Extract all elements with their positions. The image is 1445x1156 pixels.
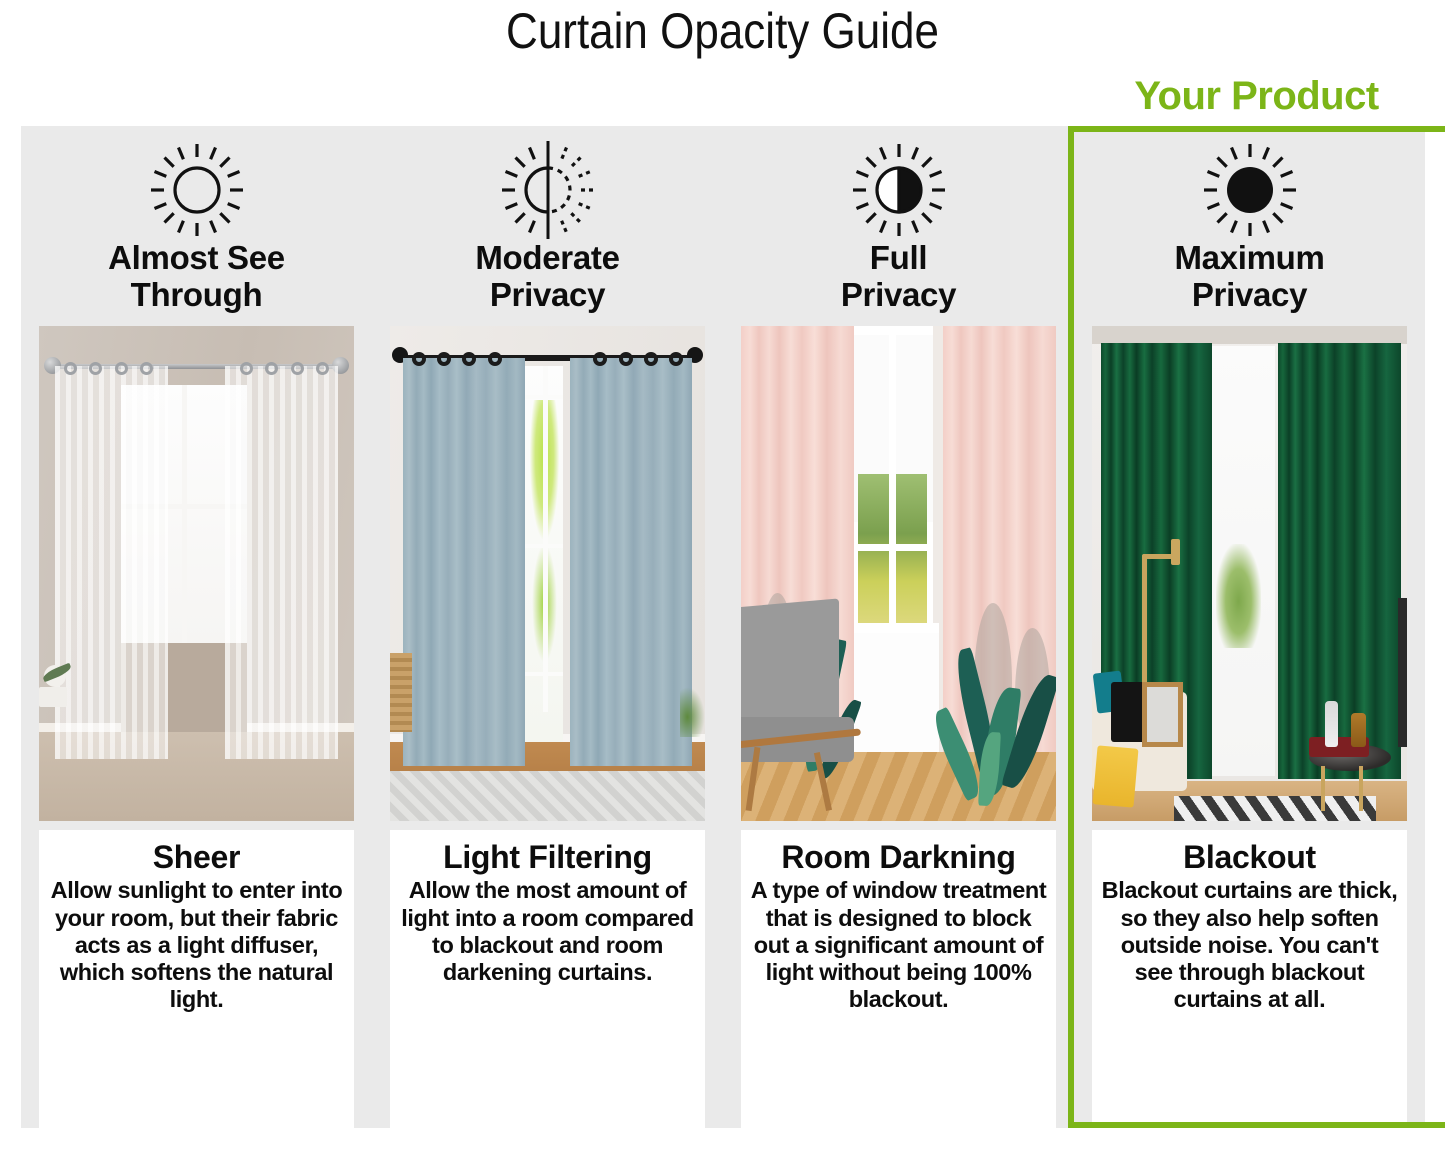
caption-card-sheer: Sheer Allow sunlight to enter into your … bbox=[39, 830, 354, 1128]
card-body-light-filtering: Allow the most amount of light into a ro… bbox=[397, 877, 698, 986]
card-body-sheer: Allow sunlight to enter into your room, … bbox=[46, 877, 347, 1013]
opacity-label-line1: Almost See bbox=[108, 239, 285, 276]
opacity-label-sheer: Almost See Through bbox=[47, 240, 347, 314]
product-photo-sheer[interactable] bbox=[39, 326, 354, 821]
opacity-label-line1: Moderate bbox=[475, 239, 619, 276]
infographic-page: Curtain Opacity Guide Your Product bbox=[0, 0, 1445, 1156]
opacity-label-line2: Privacy bbox=[1192, 276, 1307, 313]
opacity-label-blackout: Maximum Privacy bbox=[1100, 240, 1400, 314]
opacity-label-line2: Through bbox=[131, 276, 263, 313]
column-light-filtering[interactable]: Moderate Privacy bbox=[372, 126, 723, 1128]
caption-card-room-darkning: Room Darkning A type of window treatment… bbox=[741, 830, 1056, 1128]
opacity-label-line2: Privacy bbox=[841, 276, 956, 313]
opacity-label-light-filtering: Moderate Privacy bbox=[398, 240, 698, 314]
product-photo-room-darkning[interactable] bbox=[741, 326, 1056, 821]
sun-outline-icon bbox=[137, 144, 257, 236]
your-product-badge: Your Product bbox=[1068, 74, 1445, 119]
product-photo-blackout[interactable] bbox=[1092, 326, 1407, 821]
opacity-label-line2: Privacy bbox=[490, 276, 605, 313]
opacity-label-line1: Full bbox=[870, 239, 927, 276]
comparison-columns: Almost See Through bbox=[21, 126, 1425, 1128]
column-blackout[interactable]: Maximum Privacy bbox=[1074, 126, 1425, 1128]
card-title-blackout: Blackout bbox=[1099, 840, 1400, 875]
page-title: Curtain Opacity Guide bbox=[87, 2, 1359, 60]
column-sheer[interactable]: Almost See Through bbox=[21, 126, 372, 1128]
caption-card-blackout: Blackout Blackout curtains are thick, so… bbox=[1092, 830, 1407, 1128]
card-title-sheer: Sheer bbox=[46, 840, 347, 875]
opacity-label-line1: Maximum bbox=[1174, 239, 1324, 276]
card-body-room-darkning: A type of window treatment that is desig… bbox=[748, 877, 1049, 1013]
card-title-light-filtering: Light Filtering bbox=[397, 840, 698, 875]
sun-half-filled-icon bbox=[839, 144, 959, 236]
sun-half-dashed-icon bbox=[488, 144, 608, 236]
card-body-blackout: Blackout curtains are thick, so they als… bbox=[1099, 877, 1400, 1013]
card-title-room-darkning: Room Darkning bbox=[748, 840, 1049, 875]
sun-solid-icon bbox=[1190, 144, 1310, 236]
caption-card-light-filtering: Light Filtering Allow the most amount of… bbox=[390, 830, 705, 1128]
opacity-label-room-darkning: Full Privacy bbox=[749, 240, 1049, 314]
column-room-darkning[interactable]: Full Privacy bbox=[723, 126, 1074, 1128]
product-photo-light-filtering[interactable] bbox=[390, 326, 705, 821]
